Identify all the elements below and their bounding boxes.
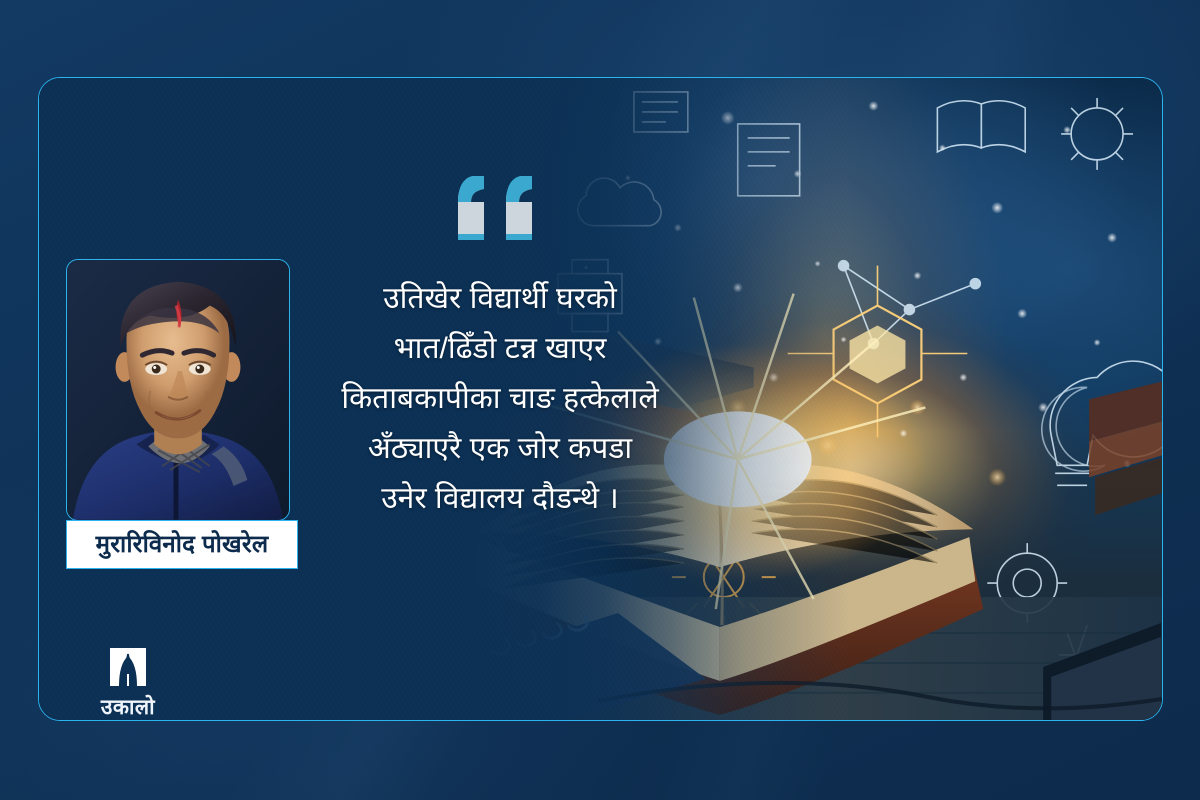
page-backdrop: मुरारिविनोद पोखरेल उकालो [0, 0, 1200, 800]
avatar [67, 260, 289, 520]
ukaalo-mountain-logo-icon [104, 644, 152, 690]
speaker-name-label: मुरारिविनोद पोखरेल [66, 520, 298, 569]
speaker-photo-frame [66, 259, 290, 521]
quote-text: उतिखेर विद्यार्थी घरको भात/ढिँडो टन्न खा… [261, 274, 739, 524]
quote-line: भात/ढिँडो टन्न खाएर [261, 324, 739, 374]
brand-name: उकालो [73, 693, 183, 721]
quote-line: अँठ्याएरै एक जोर कपडा [261, 424, 739, 474]
brand-logo[interactable]: उकालो [73, 644, 183, 721]
quote-line: उतिखेर विद्यार्थी घरको [261, 274, 739, 324]
double-quote-open-icon [454, 174, 546, 248]
quote-block: उतिखेर विद्यार्थी घरको भात/ढिँडो टन्न खा… [261, 174, 739, 524]
quote-line: किताबकापीका चाङ हत्केलाले [261, 374, 739, 424]
quote-card: मुरारिविनोद पोखरेल उकालो [38, 77, 1163, 721]
speaker-name: मुरारिविनोद पोखरेल [96, 531, 269, 558]
quote-line: उनेर विद्यालय दौडन्थे । [261, 474, 739, 524]
